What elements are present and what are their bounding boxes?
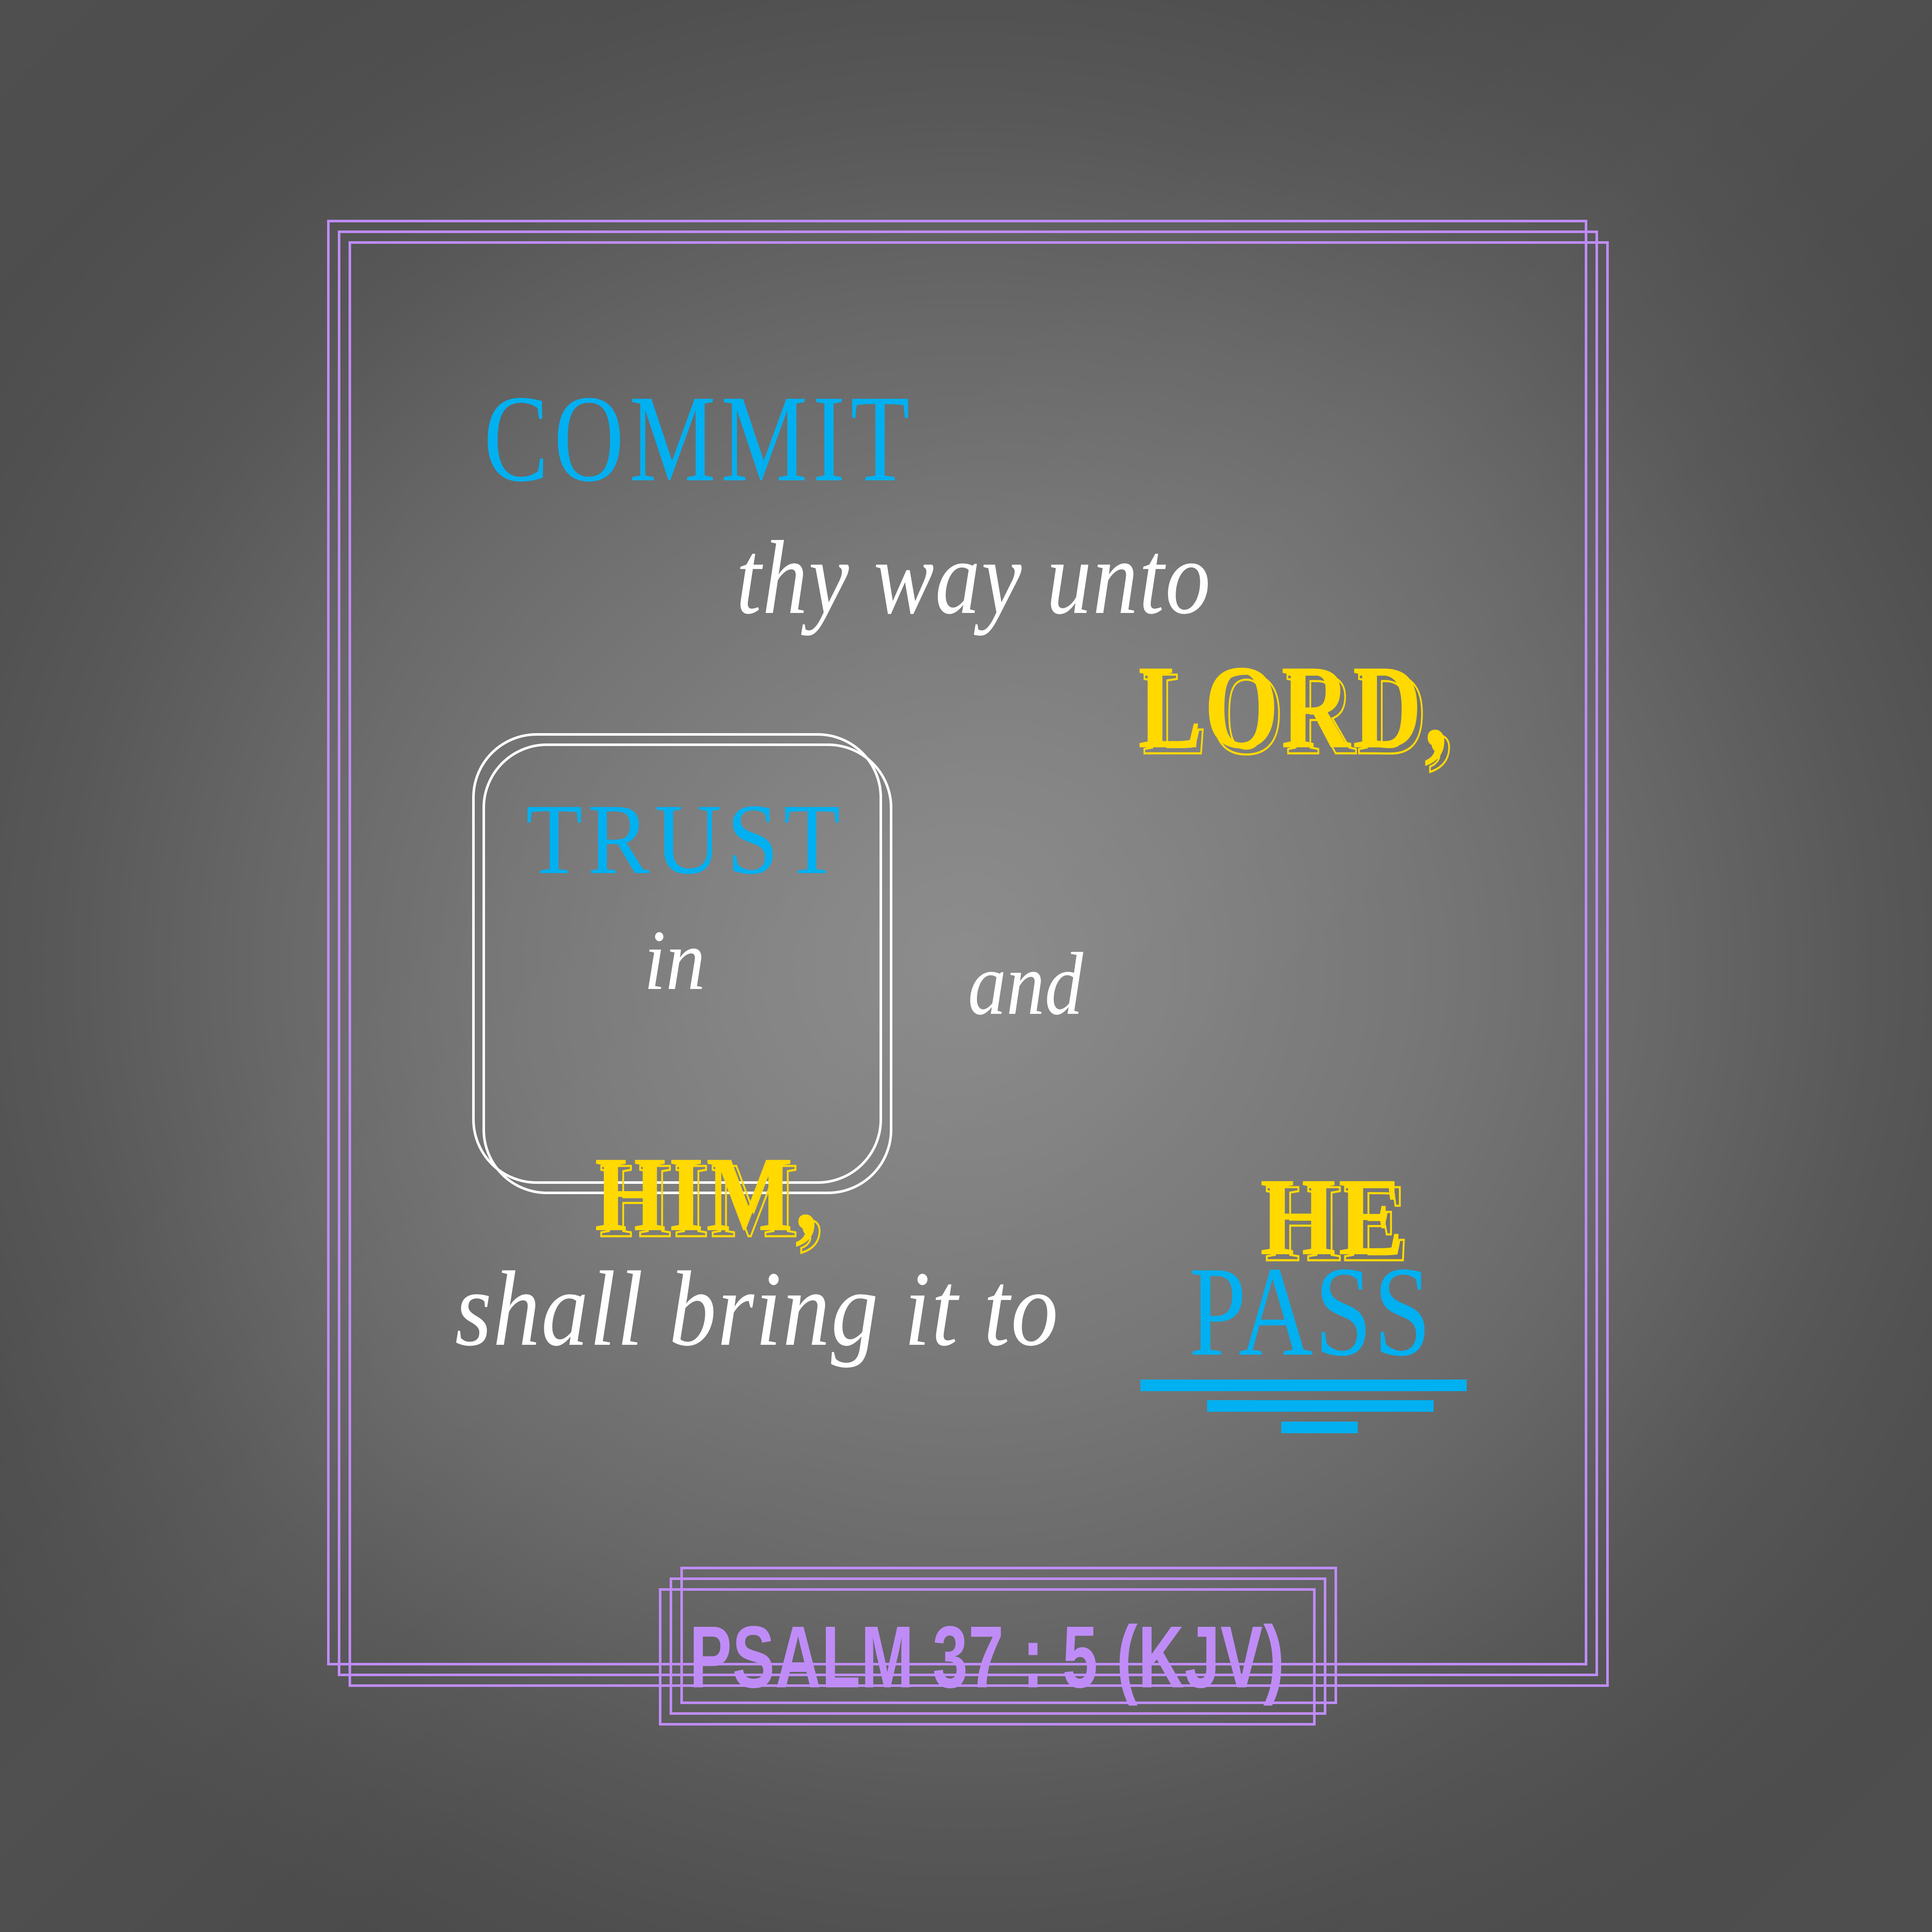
verse-word-shall-bring-it-to: shall bring it to [455, 1256, 1059, 1363]
pass-accent-bar-2 [1207, 1400, 1434, 1412]
verse-word-pass: PASS [1189, 1247, 1433, 1376]
verse-word-trust: TRUST [526, 789, 846, 890]
verse-word-and: and [968, 939, 1083, 1028]
verse-word-thy-way-unto: thy way unto [736, 525, 1212, 630]
pass-accent-bar-1 [1140, 1380, 1467, 1391]
scripture-poster: COMMIT thy way unto LORD, TRUST in HIM, … [0, 0, 1932, 1932]
verse-word-lord: LORD, [1138, 647, 1932, 767]
scripture-reference-label: PSALM 37 : 5 (KJV) [751, 1588, 1224, 1726]
pass-accent-bar-3 [1281, 1422, 1358, 1433]
verse-word-commit: COMMIT [484, 376, 915, 501]
verse-word-in: in [644, 918, 705, 1004]
